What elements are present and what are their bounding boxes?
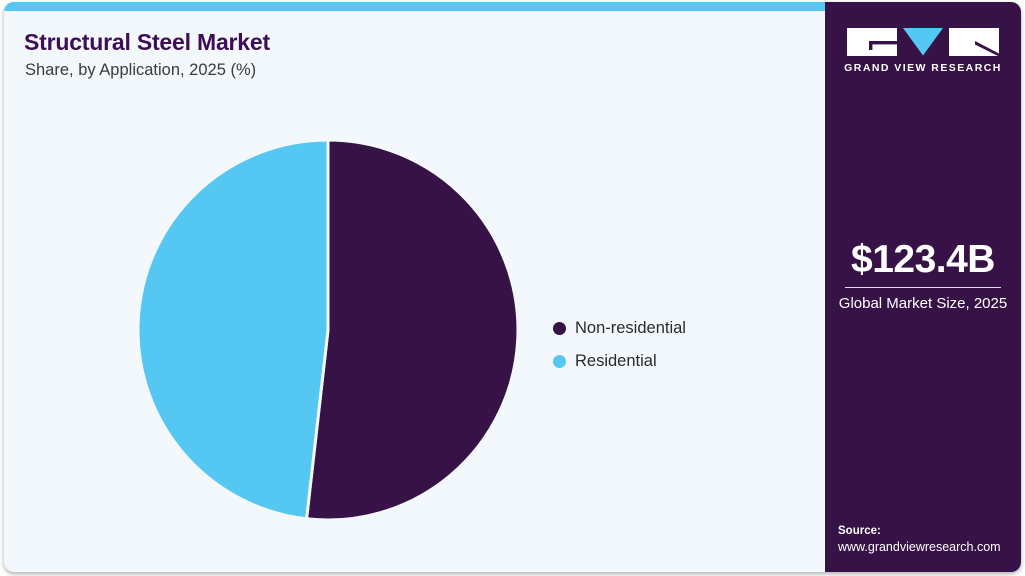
grand-view-research-logo-icon	[847, 28, 999, 56]
chart-panel: Structural Steel Market Share, by Applic…	[4, 11, 825, 572]
legend-swatch-residential	[553, 355, 566, 368]
brand-name: GRAND VIEW RESEARCH	[825, 62, 1021, 74]
pie-slice-residential	[138, 140, 328, 519]
legend-item-residential[interactable]: Residential	[553, 345, 686, 378]
source-label: Source:	[838, 523, 1021, 539]
chart-legend: Non-residential Residential	[553, 312, 686, 378]
value-divider	[845, 287, 1001, 288]
market-value: $123.4B	[825, 238, 1021, 282]
legend-label-residential: Residential	[575, 352, 657, 371]
legend-label-non-residential: Non-residential	[575, 319, 686, 338]
legend-swatch-non-residential	[553, 322, 566, 335]
top-accent-bar	[4, 2, 825, 11]
pie-chart	[137, 139, 519, 521]
market-value-caption: Global Market Size, 2025	[835, 293, 1011, 314]
source-block: Source: www.grandviewresearch.com	[838, 523, 1021, 556]
stats-sidebar: GRAND VIEW RESEARCH $123.4B Global Marke…	[825, 2, 1021, 572]
page-subtitle: Share, by Application, 2025 (%)	[25, 61, 256, 80]
source-url[interactable]: www.grandviewresearch.com	[838, 539, 1021, 556]
pie-slice-non-residential	[307, 140, 518, 520]
infographic-card: Structural Steel Market Share, by Applic…	[4, 2, 1021, 572]
page-title: Structural Steel Market	[24, 29, 270, 56]
legend-item-non-residential[interactable]: Non-residential	[553, 312, 686, 345]
